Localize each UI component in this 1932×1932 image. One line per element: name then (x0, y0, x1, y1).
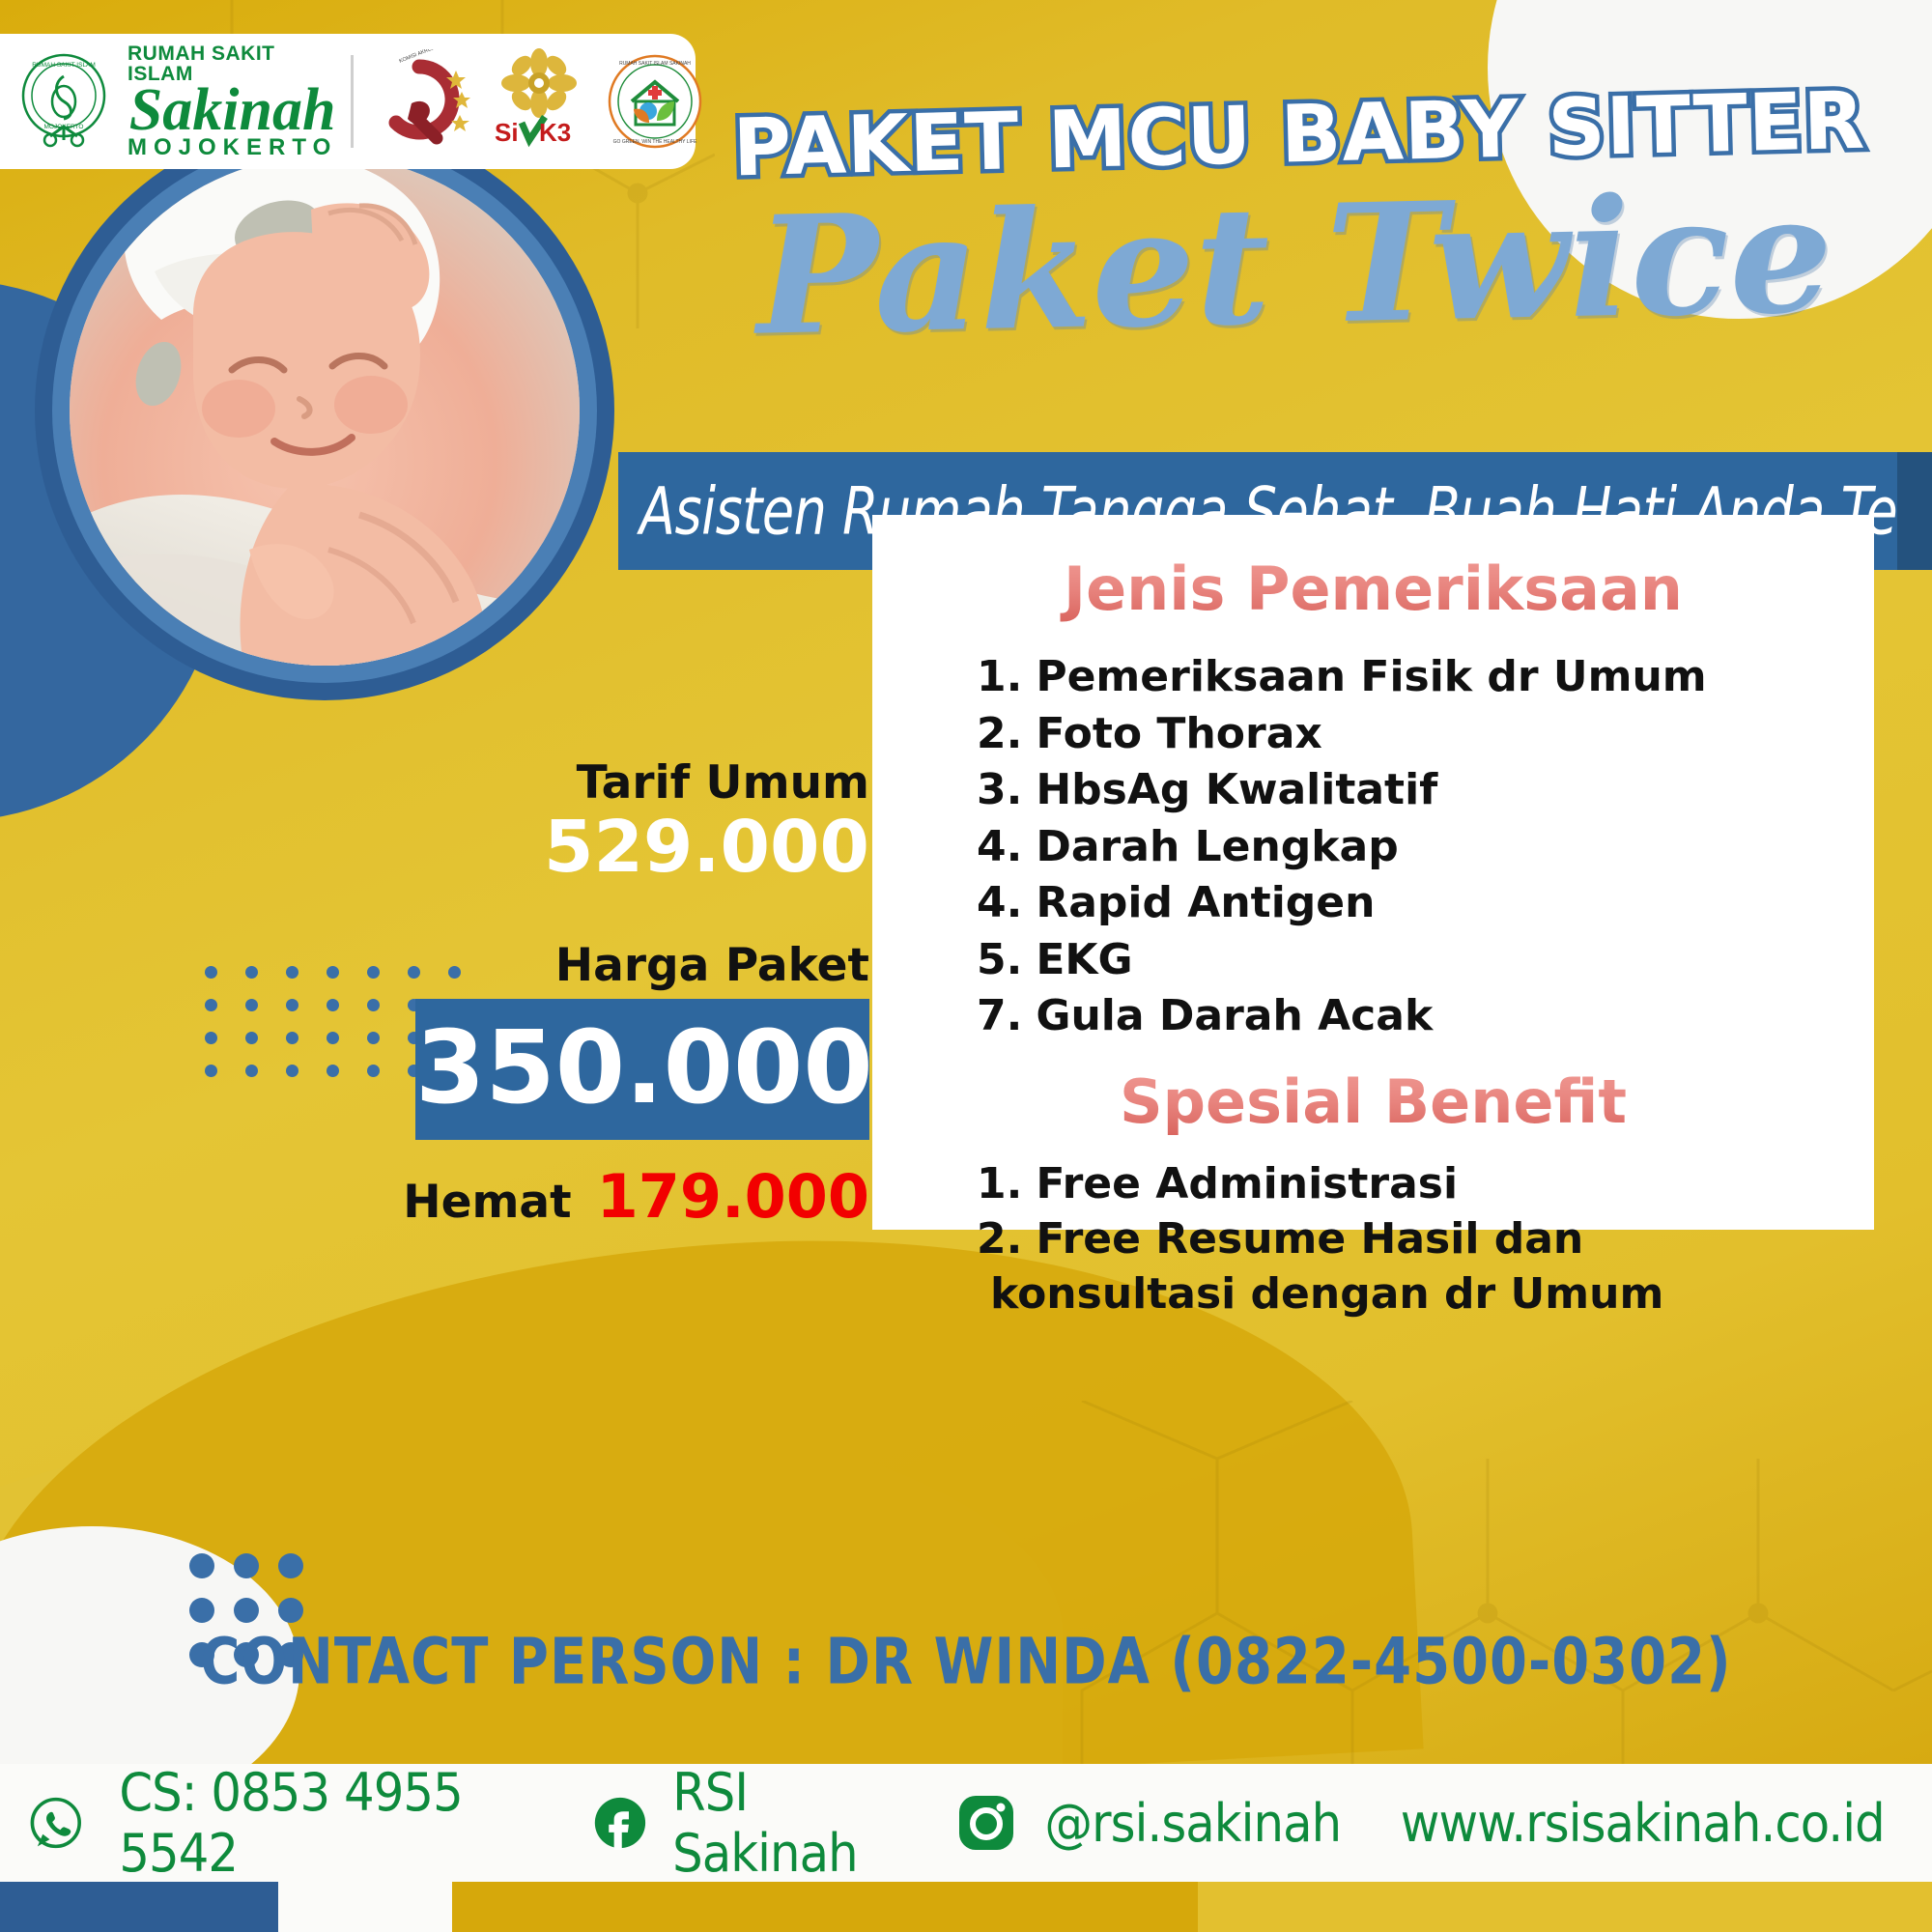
savings-value: 179.000 (597, 1161, 869, 1232)
sink3-award-icon: Si K3 (485, 47, 593, 156)
logo-line2: Sakinah (129, 82, 336, 139)
facebook-icon (593, 1793, 647, 1853)
contact-person-line: CONTACT PERSON : DR WINDA (0822-4500-030… (0, 1625, 1932, 1699)
footer-website-text: www.rsisakinah.co.id (1400, 1793, 1884, 1854)
decor-dot (327, 1032, 339, 1044)
svg-text:GO GREEN, WIN THE HEALTHY LIFE: GO GREEN, WIN THE HEALTHY LIFE (613, 139, 697, 145)
decor-dot (245, 966, 258, 979)
footer-website[interactable]: www.rsisakinah.co.id (1379, 1793, 1905, 1854)
decor-dot (245, 999, 258, 1011)
whatsapp-icon (27, 1791, 85, 1855)
package-price-value: 350.000 (415, 999, 869, 1140)
list-item: 2.Free Resume Hasil dan (977, 1211, 1826, 1266)
decor-dot (234, 1598, 259, 1623)
benefit-list: 1.Free Administrasi2.Free Resume Hasil d… (921, 1156, 1826, 1266)
footer-whatsapp[interactable]: CS: 0853 4955 5542 (27, 1762, 568, 1884)
baby-illustration-icon (70, 156, 580, 666)
decor-dot (205, 1065, 217, 1077)
hospital-wordmark: RUMAH SAKIT ISLAM Sakinah MOJOKERTO (128, 43, 337, 160)
list-item-number: 2. (977, 1211, 1022, 1266)
list-item-label: Darah Lengkap (1036, 819, 1398, 876)
svg-text:MOJOKERTO: MOJOKERTO (44, 124, 84, 130)
footer-whatsapp-text: CS: 0853 4955 5542 (119, 1762, 549, 1884)
strip-gold-light (1198, 1882, 1932, 1932)
list-item-number: 4. (977, 875, 1022, 932)
footer-facebook[interactable]: RSI Sakinah (593, 1762, 931, 1884)
decor-dot (327, 999, 339, 1011)
decor-dot (189, 1598, 214, 1623)
svg-text:RUMAH SAKIT ISLAM SAKINAH: RUMAH SAKIT ISLAM SAKINAH (619, 61, 691, 67)
list-item-label: Foto Thorax (1036, 706, 1321, 763)
strip-blue (0, 1882, 278, 1932)
decor-dot (327, 1065, 339, 1077)
exam-heading: Jenis Pemeriksaan (921, 554, 1826, 624)
decor-dot (367, 999, 380, 1011)
list-item: 3.HbsAg Kwalitatif (977, 762, 1826, 819)
list-item-label: Free Resume Hasil dan (1036, 1211, 1583, 1266)
hospital-seal-icon: RUMAH SAKIT ISLAM MOJOKERTO (14, 51, 114, 152)
footer-bar: CS: 0853 4955 5542 RSI Sakinah @rsi.saki… (0, 1764, 1932, 1882)
decor-dot (327, 966, 339, 979)
decor-dot (367, 1032, 380, 1044)
benefit-continuation: konsultasi dengan dr Umum (921, 1266, 1826, 1321)
strip-white (278, 1882, 452, 1932)
decor-dot (286, 999, 298, 1011)
svg-text:Si: Si (495, 118, 519, 147)
list-item: 7.Gula Darah Acak (977, 988, 1826, 1045)
footer-color-strip (0, 1882, 1932, 1932)
poster-root: RUMAH SAKIT ISLAM MOJOKERTO RUMAH SAKIT … (0, 0, 1932, 1932)
list-item-number: 7. (977, 988, 1022, 1045)
decor-dot (367, 966, 380, 979)
exam-list: 1.Pemeriksaan Fisik dr Umum2.Foto Thorax… (921, 649, 1826, 1045)
list-item-label: EKG (1036, 932, 1132, 989)
decor-dot (286, 966, 298, 979)
list-item: 2.Foto Thorax (977, 706, 1826, 763)
list-item-number: 4. (977, 819, 1022, 876)
subtitle-band-notch (1897, 452, 1932, 570)
logo-divider (351, 55, 354, 148)
price-block: Tarif Umum 529.000 Harga Paket 350.000 H… (415, 758, 869, 1232)
decor-dot (278, 1553, 303, 1578)
list-item-label: Gula Darah Acak (1036, 988, 1433, 1045)
decor-dot (245, 1032, 258, 1044)
decor-dot (205, 999, 217, 1011)
decor-dot (245, 1065, 258, 1077)
list-item-number: 1. (977, 649, 1022, 706)
normal-price-label: Tarif Umum (415, 758, 869, 809)
decor-dot (367, 1065, 380, 1077)
decor-dot (278, 1598, 303, 1623)
strip-gold-dark (452, 1882, 1198, 1932)
footer-instagram[interactable]: @rsi.sakinah (956, 1793, 1354, 1854)
details-card: Jenis Pemeriksaan 1.Pemeriksaan Fisik dr… (872, 515, 1874, 1230)
decor-dot (205, 1032, 217, 1044)
svg-text:K3: K3 (539, 118, 571, 147)
normal-price-value: 529.000 (415, 810, 869, 886)
list-item-label: HbsAg Kwalitatif (1036, 762, 1437, 819)
footer-instagram-text: @rsi.sakinah (1044, 1793, 1341, 1854)
decor-dot (234, 1553, 259, 1578)
list-item-label: Free Administrasi (1036, 1156, 1458, 1211)
footer-facebook-text: RSI Sakinah (673, 1762, 921, 1884)
instagram-icon (956, 1793, 1016, 1853)
list-item: 1.Free Administrasi (977, 1156, 1826, 1211)
list-item: 1.Pemeriksaan Fisik dr Umum (977, 649, 1826, 706)
list-item: 4.Darah Lengkap (977, 819, 1826, 876)
list-item-number: 5. (977, 932, 1022, 989)
decor-dot (286, 1032, 298, 1044)
savings-label: Hemat (403, 1176, 571, 1229)
benefit-heading: Spesial Benefit (921, 1066, 1826, 1137)
package-name-title: Paket Twice (655, 170, 1932, 359)
kars-accreditation-icon: KOMISI AKREDITASI (367, 49, 471, 154)
decor-dot (189, 1553, 214, 1578)
list-item-number: 2. (977, 706, 1022, 763)
list-item-label: Pemeriksaan Fisik dr Umum (1036, 649, 1706, 706)
savings-row: Hemat 179.000 (415, 1161, 869, 1232)
list-item-number: 3. (977, 762, 1022, 819)
list-item-number: 1. (977, 1156, 1022, 1211)
baby-photo (70, 156, 580, 666)
decor-dot (286, 1065, 298, 1077)
go-green-icon: RUMAH SAKIT ISLAM SAKINAH GO GREEN, WIN … (607, 53, 703, 150)
logo-bar: RUMAH SAKIT ISLAM MOJOKERTO RUMAH SAKIT … (0, 34, 696, 169)
list-item: 4.Rapid Antigen (977, 875, 1826, 932)
svg-text:RUMAH SAKIT ISLAM: RUMAH SAKIT ISLAM (32, 62, 96, 69)
list-item-label: Rapid Antigen (1036, 875, 1375, 932)
list-item: 5.EKG (977, 932, 1826, 989)
logo-line3: MOJOKERTO (128, 136, 337, 159)
decor-dot (205, 966, 217, 979)
package-price-label: Harga Paket (415, 941, 869, 991)
